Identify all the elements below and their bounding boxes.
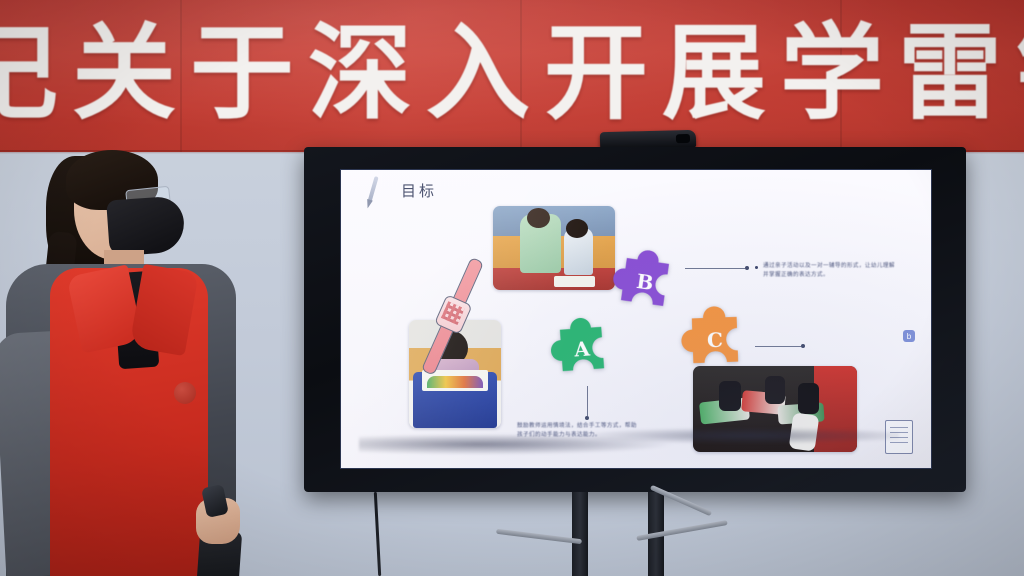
blue-badge-icon: b: [903, 330, 915, 342]
tv-screen[interactable]: 目标: [340, 169, 932, 469]
vest-badge: [174, 382, 196, 404]
photo-adult-child-reading: [493, 206, 615, 290]
bullet-right: [755, 266, 758, 269]
slide-body-text-right: 通过亲子活动以及一对一辅导的形式，让幼儿理解并掌握正确的表达方式。: [763, 262, 895, 280]
puzzle-label-a: A: [543, 310, 622, 389]
wall-mounted-display[interactable]: 目标: [304, 147, 966, 492]
leader-dot-a: [585, 416, 589, 420]
leader-dot-c: [801, 344, 805, 348]
face-mask: [106, 195, 186, 256]
tv-floor-stand: [572, 492, 588, 576]
puzzle-piece-a: A: [543, 310, 622, 389]
leader-line-a: [587, 386, 588, 416]
banner-text: 记关于深入开展学雷锋活动的: [0, 14, 1024, 138]
puzzle-label-c: C: [674, 299, 757, 382]
slide-title: 目标: [401, 180, 437, 201]
puzzle-piece-c: C: [674, 299, 757, 382]
shadow-swoosh-decoration: [359, 422, 899, 458]
photo-scene: 记关于深入开展学雷锋活动的 目标: [0, 0, 1024, 576]
presenter-woman: [0, 146, 260, 576]
leader-line-c: [755, 346, 801, 347]
leader-line-b: [685, 268, 745, 269]
red-event-banner: 记关于深入开展学雷锋活动的: [0, 0, 1024, 152]
leader-dot-b: [745, 266, 749, 270]
